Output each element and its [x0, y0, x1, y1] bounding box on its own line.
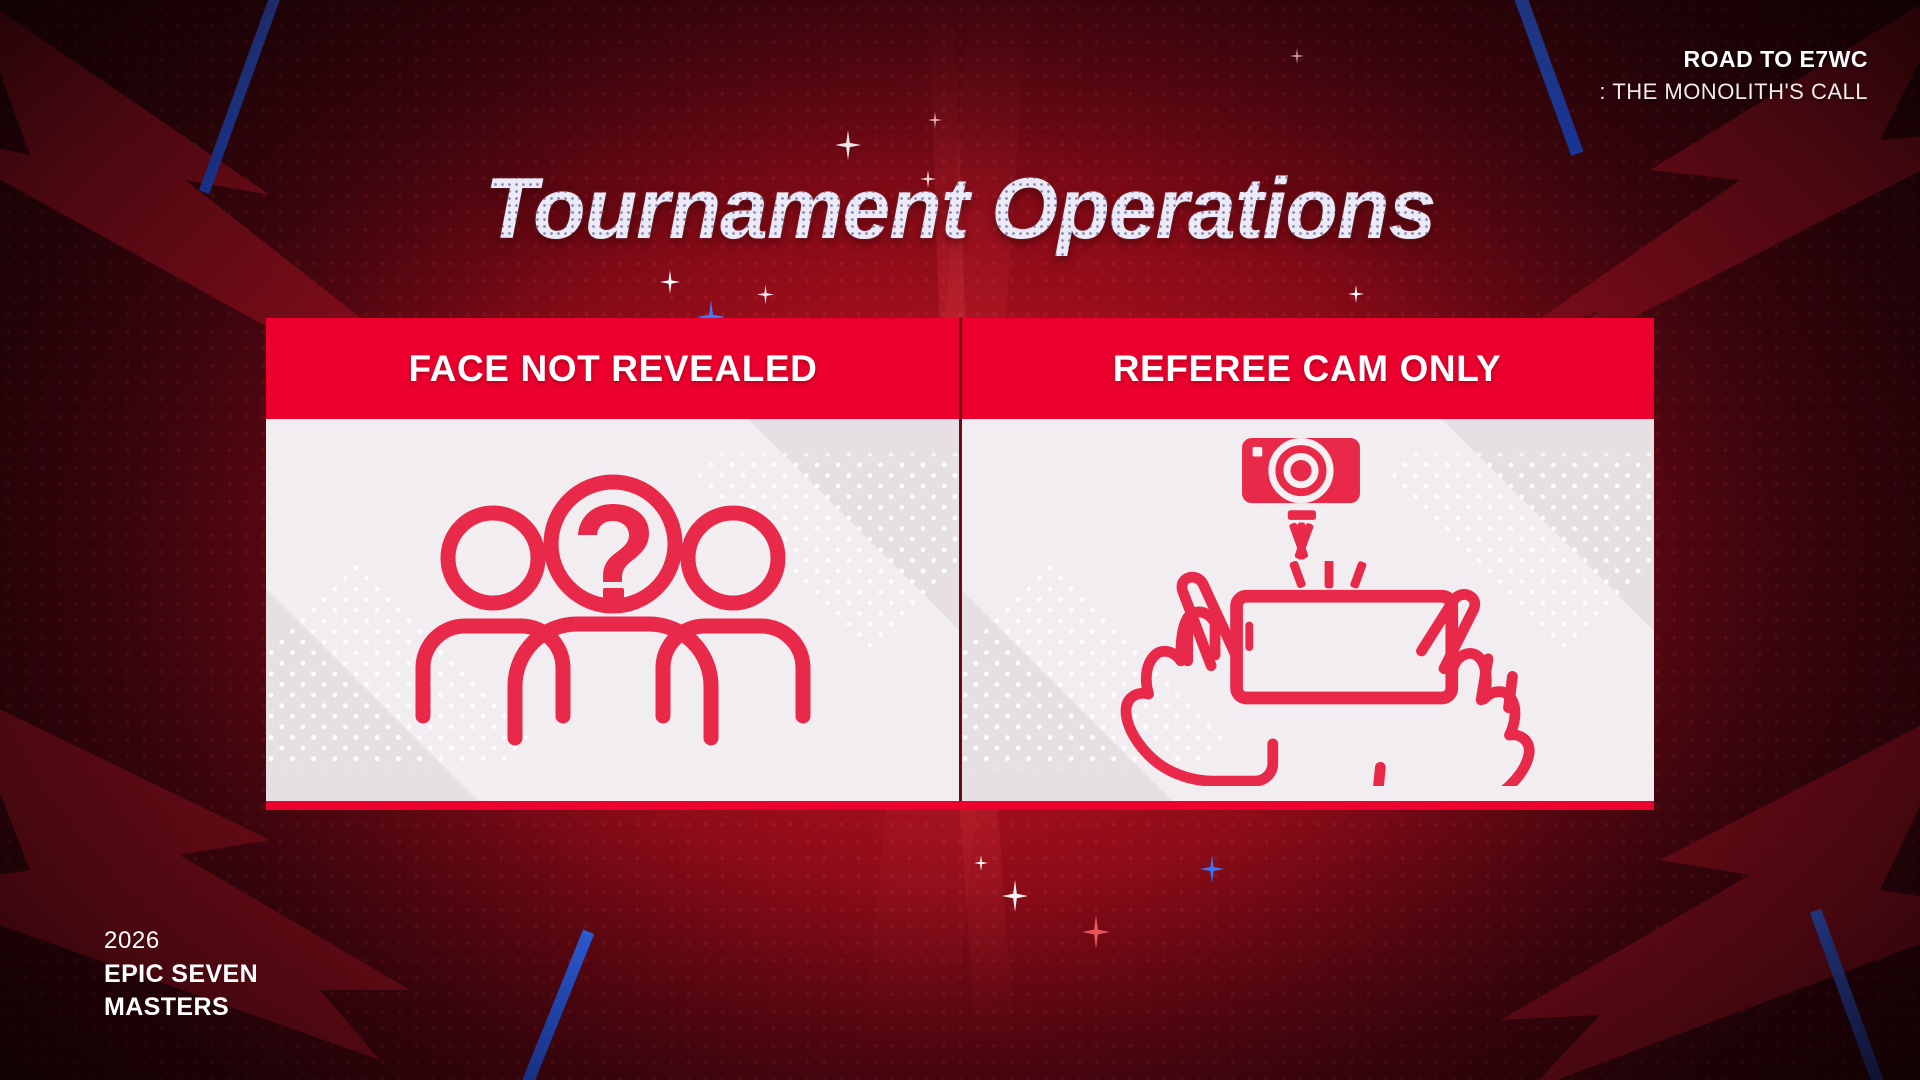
rule-card-header: REFEREE CAM ONLY [960, 318, 1654, 419]
slide-canvas: ROAD TO E7WC : THE MONOLITH'S CALL Tourn… [0, 0, 1920, 1080]
rule-card-title: REFEREE CAM ONLY [1113, 348, 1502, 390]
event-branding: 2026 EPIC SEVEN MASTERS [104, 927, 258, 1024]
event-header-line2: : THE MONOLITH'S CALL [1599, 79, 1868, 105]
event-header-line1: ROAD TO E7WC [1599, 46, 1868, 73]
card-bottom-accent-bar [266, 801, 1654, 810]
branding-name-line2: MASTERS [104, 991, 258, 1024]
branding-name-line1: EPIC SEVEN [104, 958, 258, 991]
branding-year: 2026 [104, 927, 258, 955]
people-question-icon [266, 419, 960, 801]
camera-tripod-phone-icon [960, 419, 1654, 801]
rules-card-group: FACE NOT REVEALED [266, 318, 1654, 801]
rule-card-header: FACE NOT REVEALED [266, 318, 960, 419]
event-header: ROAD TO E7WC : THE MONOLITH'S CALL [1599, 46, 1868, 105]
rule-card-title: FACE NOT REVEALED [408, 348, 817, 390]
rule-card-face-not-revealed: FACE NOT REVEALED [266, 318, 960, 801]
rule-card-body [960, 419, 1654, 801]
card-divider [959, 318, 962, 801]
page-title: Tournament Operations [485, 160, 1436, 259]
rule-card-body [266, 419, 960, 801]
page-title-wrap: Tournament Operations Tournament Operati… [0, 160, 1920, 259]
rule-card-referee-cam-only: REFEREE CAM ONLY [960, 318, 1654, 801]
